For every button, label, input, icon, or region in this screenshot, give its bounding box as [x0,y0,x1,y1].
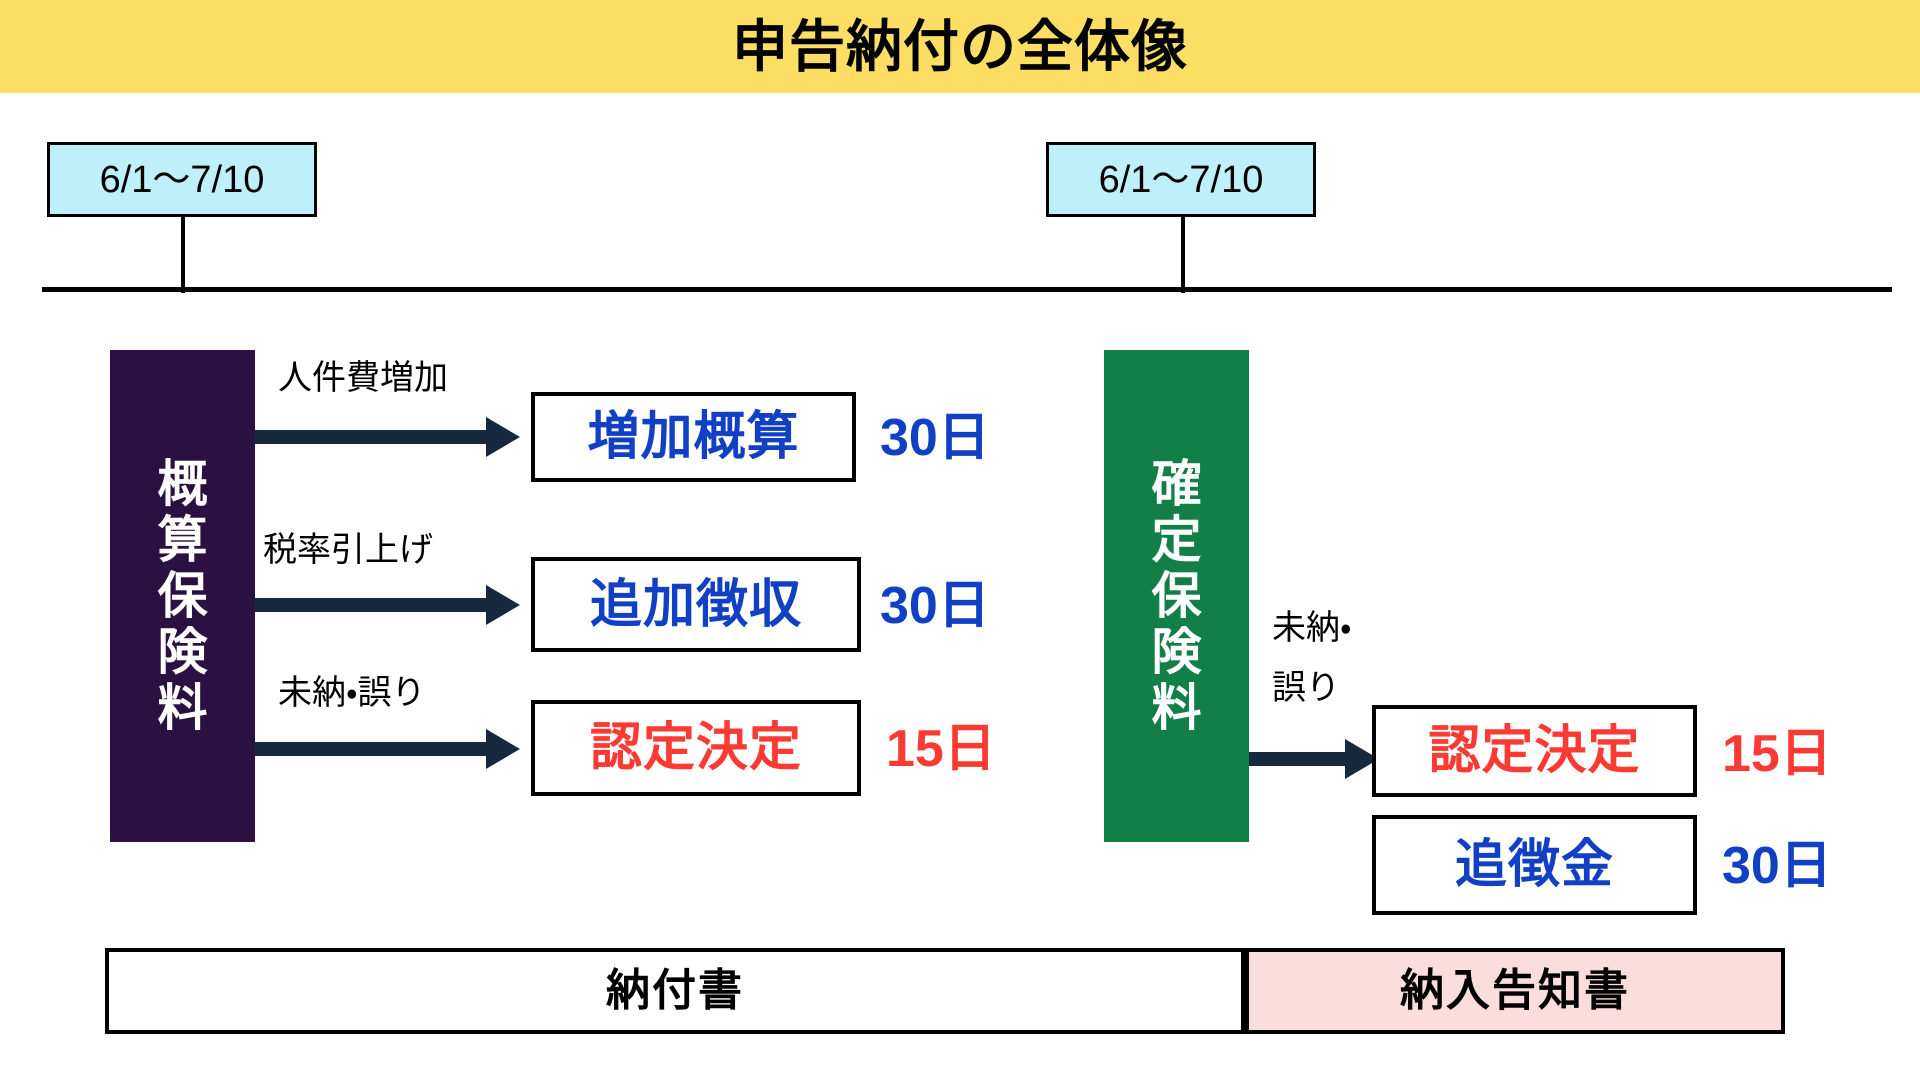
result-box-gaisan-row-1: 増加概算 [531,392,856,482]
arrow-head [486,417,520,457]
gaisan-char-3: 険 [158,624,208,680]
day-label-kakutei-row-2: 30日 [1722,840,1832,892]
document-bar: 納付書 納入告知書 [105,948,1785,1034]
day-label-gaisan-row-3: 15日 [886,723,996,775]
result-box-gaisan-row-3: 認定決定 [531,700,861,796]
page-title: 申告納付の全体像 [732,19,1188,75]
result-box-kakutei-row-2: 追徴金 [1372,815,1697,915]
kakutei-char-0: 確 [1152,456,1202,512]
date-box-right-label: 6/1〜7/10 [1099,161,1264,199]
arrow-shaft [255,430,486,444]
day-label-kakutei-row-1: 15日 [1722,728,1832,780]
kakutei-char-4: 料 [1152,680,1202,736]
document-cell-nofusho-label: 納付書 [606,969,744,1013]
arrow-shaft [1249,752,1345,766]
kakutei-char-1: 定 [1152,512,1202,568]
timeline-tick-left [181,217,185,293]
result-label-kakutei-row-1: 認定決定 [1428,725,1640,777]
day-label-gaisan-row-1: 30日 [880,412,990,464]
gaisan-char-0: 概 [158,456,208,512]
source-bar-kakutei: 確 定 保 険 料 [1104,350,1249,842]
title-banner: 申告納付の全体像 [0,0,1920,93]
date-box-right: 6/1〜7/10 [1046,142,1316,217]
document-cell-nonyu-kokuchisho: 納入告知書 [1245,948,1785,1034]
kakutei-char-3: 険 [1152,624,1202,680]
kakutei-char-2: 保 [1152,568,1202,624]
date-box-left: 6/1〜7/10 [47,142,317,217]
result-label-gaisan-row-2: 追加徴収 [590,579,802,631]
date-box-left-label: 6/1〜7/10 [100,161,265,199]
arrow-head [486,585,520,625]
result-box-kakutei-row-1: 認定決定 [1372,705,1697,797]
gaisan-char-1: 算 [158,512,208,568]
document-cell-nonyu-kokuchisho-label: 納入告知書 [1400,969,1630,1013]
document-cell-nofusho: 納付書 [105,948,1245,1034]
timeline-tick-right [1181,217,1185,293]
arrow-label-kakutei-line1: 未納・ [1272,608,1352,648]
result-label-gaisan-row-3: 認定決定 [590,722,802,774]
gaisan-char-2: 保 [158,568,208,624]
result-box-gaisan-row-2: 追加徴収 [531,557,861,652]
arrow-label-gaisan-row-3: 未納・誤り [278,673,426,713]
arrow-label-gaisan-row-1: 人件費増加 [278,358,448,398]
arrow-shaft [255,598,486,612]
arrow-label-gaisan-row-2: 税率引上げ [263,530,433,570]
day-label-gaisan-row-2: 30日 [880,580,990,632]
result-label-kakutei-row-2: 追徴金 [1455,839,1614,891]
source-bar-gaisan: 概 算 保 険 料 [110,350,255,842]
result-label-gaisan-row-1: 増加概算 [587,411,799,463]
arrow-label-kakutei-line2: 誤り [1272,668,1340,708]
arrow-head [486,729,520,769]
timeline-axis [42,287,1892,292]
arrow-shaft [255,742,486,756]
gaisan-char-4: 料 [158,680,208,736]
